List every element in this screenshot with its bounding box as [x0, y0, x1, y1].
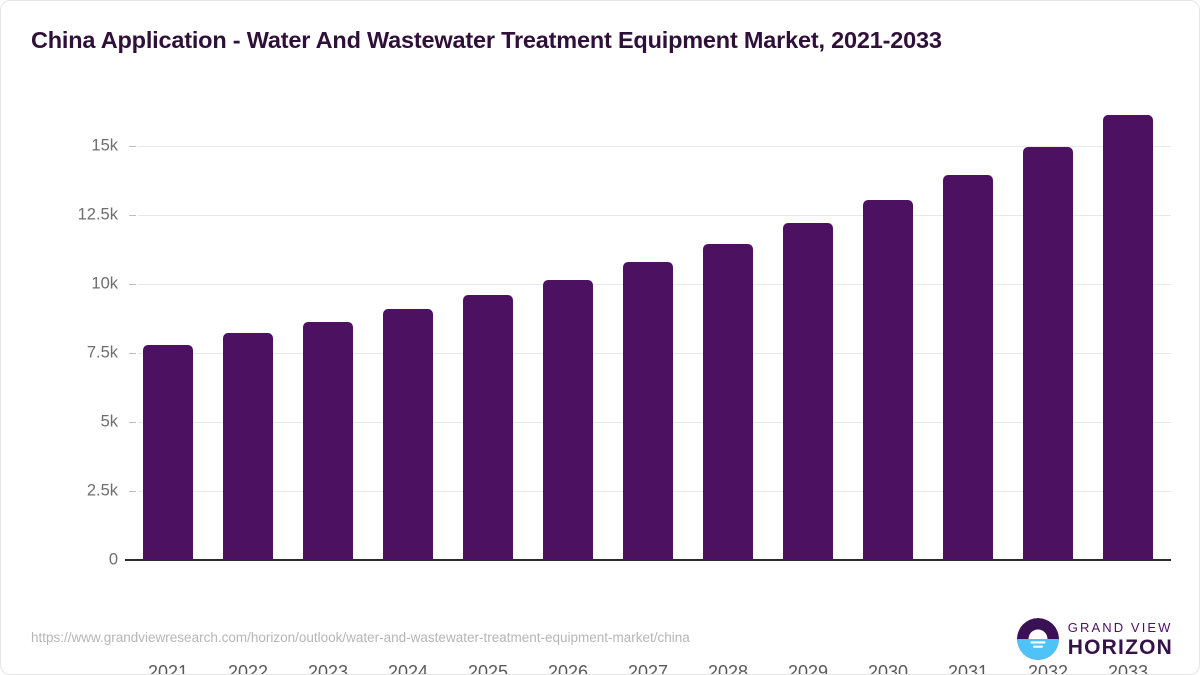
y-tick-mark	[129, 284, 136, 285]
bar-2028[interactable]	[703, 244, 753, 560]
x-tick-label: 2028	[683, 662, 773, 675]
bar-2033[interactable]	[1103, 115, 1153, 560]
y-tick-label: 7.5k	[0, 343, 118, 362]
x-tick-label: 2023	[283, 662, 373, 675]
bar-2023[interactable]	[303, 322, 353, 560]
source-url-text: https://www.grandviewresearch.com/horizo…	[31, 630, 690, 645]
y-tick-label: 5k	[0, 412, 118, 431]
bar-2022[interactable]	[223, 333, 273, 560]
bar-2027[interactable]	[623, 262, 673, 560]
bar-2026[interactable]	[543, 280, 593, 560]
y-tick-mark	[129, 422, 136, 423]
bar-2025[interactable]	[463, 295, 513, 560]
gridline	[138, 146, 1171, 147]
grand-view-horizon-logo-icon	[1017, 618, 1059, 660]
x-tick-label: 2022	[203, 662, 293, 675]
x-tick-label: 2032	[1003, 662, 1093, 675]
brand-wordmark: GRAND VIEW HORIZON	[1068, 621, 1173, 658]
page-title: China Application - Water And Wastewater…	[31, 27, 942, 54]
x-tick-label: 2021	[123, 662, 213, 675]
bar-2031[interactable]	[943, 175, 993, 560]
x-tick-label: 2026	[523, 662, 613, 675]
y-tick-mark	[129, 146, 136, 147]
bar-2032[interactable]	[1023, 147, 1073, 560]
x-axis-line	[125, 559, 1171, 561]
brand-line-grand-view: GRAND VIEW	[1068, 621, 1173, 634]
gridline	[138, 215, 1171, 216]
y-tick-label: 12.5k	[0, 205, 118, 224]
y-tick-mark	[129, 491, 136, 492]
plot-area: 02.5k5k7.5k10k12.5k15k202120222023202420…	[138, 96, 1171, 560]
bar-2029[interactable]	[783, 223, 833, 560]
x-tick-label: 2033	[1083, 662, 1173, 675]
x-tick-label: 2024	[363, 662, 453, 675]
y-tick-mark	[129, 215, 136, 216]
bar-2021[interactable]	[143, 345, 193, 560]
x-tick-label: 2025	[443, 662, 533, 675]
chart-canvas: China Application - Water And Wastewater…	[0, 0, 1200, 675]
y-tick-label: 0	[0, 551, 118, 570]
y-tick-label: 2.5k	[0, 481, 118, 500]
bar-2024[interactable]	[383, 309, 433, 560]
x-tick-label: 2031	[923, 662, 1013, 675]
y-tick-label: 10k	[0, 274, 118, 293]
x-tick-label: 2030	[843, 662, 933, 675]
y-tick-label: 15k	[0, 136, 118, 155]
y-tick-mark	[129, 353, 136, 354]
bar-2030[interactable]	[863, 200, 913, 560]
x-tick-label: 2029	[763, 662, 853, 675]
x-tick-label: 2027	[603, 662, 693, 675]
brand-line-horizon: HORIZON	[1068, 637, 1173, 658]
brand-logo: GRAND VIEW HORIZON	[1017, 618, 1173, 660]
